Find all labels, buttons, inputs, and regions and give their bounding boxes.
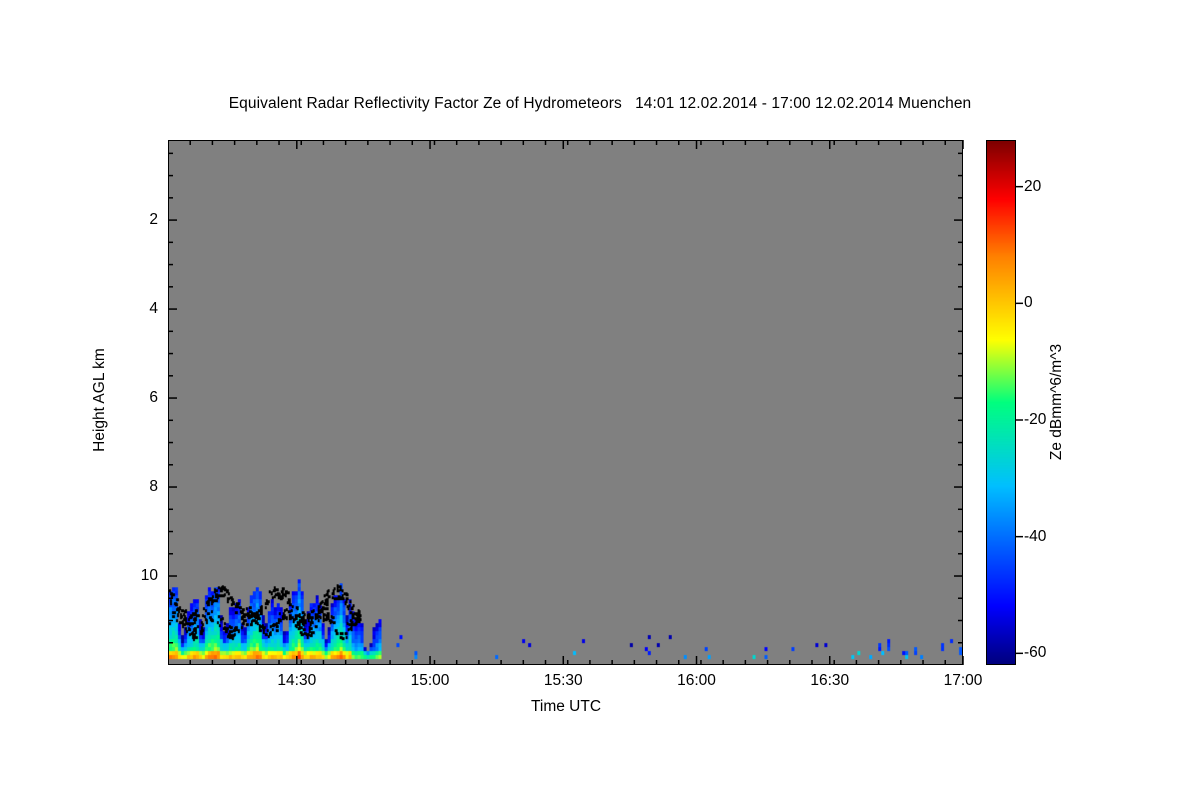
colorbar-label: Ze dBmm^6/m^3 xyxy=(1048,344,1066,460)
y-tick-label: 10 xyxy=(108,567,158,585)
colorbar-tick-label: -20 xyxy=(1024,411,1046,429)
radar-reflectivity-figure: Equivalent Radar Reflectivity Factor Ze … xyxy=(0,0,1200,800)
x-tick-label: 15:30 xyxy=(544,672,583,690)
y-axis: 10864214:3015:0015:3016:0016:3017:00 xyxy=(0,0,1200,800)
colorbar-tick-label: 20 xyxy=(1024,178,1041,196)
x-tick-label: 17:00 xyxy=(944,672,983,690)
x-tick-label: 16:00 xyxy=(677,672,716,690)
y-tick-label: 4 xyxy=(108,300,158,318)
y-tick-label: 6 xyxy=(108,389,158,407)
y-tick-label: 2 xyxy=(108,211,158,229)
y-tick-label: 8 xyxy=(108,478,158,496)
x-tick-label: 15:00 xyxy=(411,672,450,690)
y-axis-label: Height AGL km xyxy=(91,348,109,452)
x-tick-label: 16:30 xyxy=(810,672,849,690)
colorbar-gradient xyxy=(987,141,1015,664)
colorbar-tick-label: -40 xyxy=(1024,528,1046,546)
colorbar-tick-label: -60 xyxy=(1024,644,1046,662)
colorbar-tick-label: 0 xyxy=(1024,294,1033,312)
x-axis-label: Time UTC xyxy=(531,698,601,716)
x-tick-label: 14:30 xyxy=(277,672,316,690)
colorbar xyxy=(986,140,1016,665)
